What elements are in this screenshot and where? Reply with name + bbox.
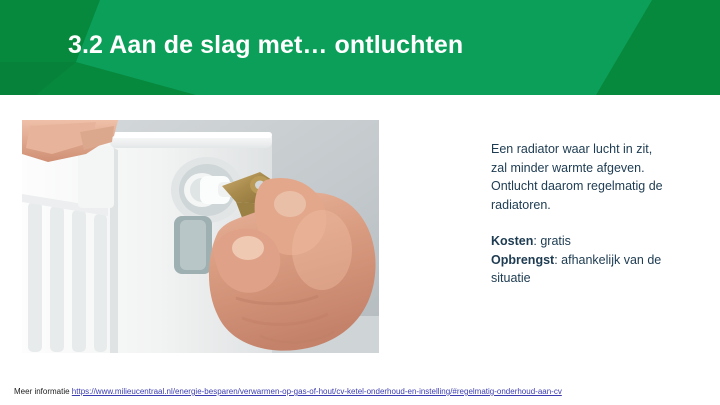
body-text-column: Een radiator waar lucht in zit, zal mind…	[491, 140, 666, 288]
fact-opbrengst: Opbrengst: afhankelijk van de situatie	[491, 251, 666, 288]
slide-header-banner: 3.2 Aan de slag met… ontluchten	[0, 0, 720, 95]
fact-kosten-label: Kosten	[491, 234, 533, 248]
fact-kosten: Kosten: gratis	[491, 232, 666, 251]
photo-illustration	[22, 120, 379, 353]
footer-label: Meer informatie	[14, 387, 72, 396]
fact-opbrengst-label: Opbrengst	[491, 253, 554, 267]
footer-source-note: Meer informatie https://www.milieucentra…	[14, 386, 562, 397]
radiator-bleeding-photo	[22, 120, 379, 353]
paragraph-spacer	[491, 214, 666, 232]
slide-title: 3.2 Aan de slag met… ontluchten	[68, 28, 668, 62]
footer-source-link[interactable]: https://www.milieucentraal.nl/energie-be…	[72, 387, 562, 396]
body-paragraph: Een radiator waar lucht in zit, zal mind…	[491, 140, 666, 214]
fact-kosten-value: gratis	[540, 234, 571, 248]
